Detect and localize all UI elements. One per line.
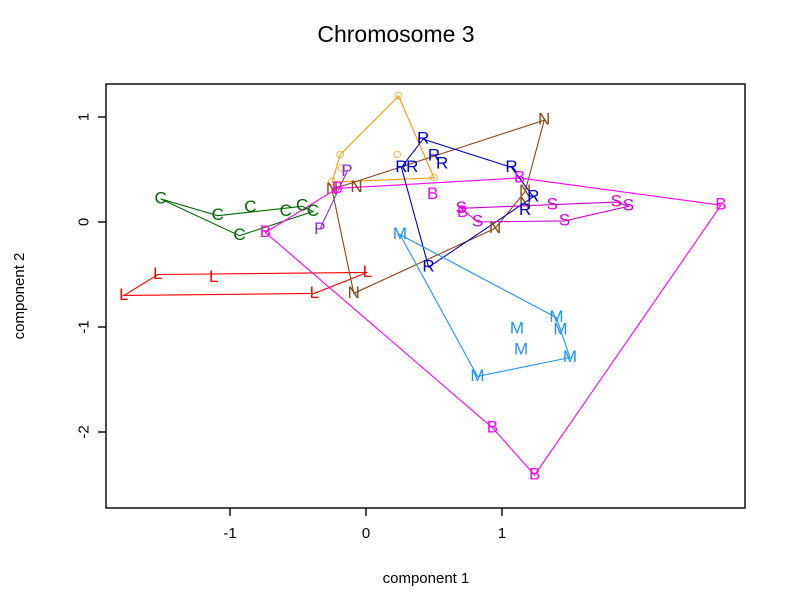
data-point-c-1: C [212,205,224,224]
data-point-c-0: C [154,188,166,207]
plot-canvas: Chromosome 3 -101 10-1-2 component 1 com… [0,0,792,611]
page-title: Chromosome 3 [317,21,474,47]
data-point-b-0: B [260,222,271,241]
data-point-n-1: N [350,177,362,196]
data-point-b-2: B [427,184,438,203]
data-point-c-3: C [280,201,292,220]
data-point-c-5: C [307,201,319,220]
chromosome-scatter-plot: Chromosome 3 -101 10-1-2 component 1 com… [0,0,792,611]
data-point-s-2: S [547,195,558,214]
data-point-l-1: L [153,264,162,283]
data-point-s-0: S [456,198,467,217]
data-point-m-2: M [514,340,528,359]
x-axis-label: component 1 [383,570,470,587]
data-point-r-8: R [422,257,434,276]
data-point-b-5: B [715,195,726,214]
data-point-c-6: C [233,225,245,244]
data-point-m-5: M [563,347,577,366]
data-point-r-5: R [505,157,517,176]
data-point-l-3: L [310,283,319,302]
data-point-l-2: L [209,267,218,286]
data-point-m-4: M [553,320,567,339]
data-point-r-3: R [406,157,418,176]
data-point-o-0: ○ [393,85,403,104]
data-point-c-2: C [244,197,256,216]
data-point-s-1: S [472,211,483,230]
data-point-r-7: R [519,200,531,219]
data-point-l-0: L [119,285,128,304]
y-tick-label: -2 [76,425,93,438]
data-point-s-4: S [611,192,622,211]
x-tick-label: 0 [362,525,370,542]
data-point-n-2: N [538,110,550,129]
data-point-p-1: P [314,219,325,238]
y-tick-label: 1 [76,113,93,121]
data-point-m-1: M [510,319,524,338]
y-tick-label: 0 [76,218,93,226]
data-point-n-5: N [489,218,501,237]
x-tick-label: -1 [223,525,236,542]
data-point-b-1: B [332,178,343,197]
data-point-b-6: B [487,417,498,436]
y-axis-label: component 2 [11,253,28,340]
data-point-r-2: R [436,154,448,173]
data-point-s-3: S [559,210,570,229]
data-point-n-6: N [348,283,360,302]
data-point-r-4: R [395,157,407,176]
data-point-s-5: S [623,196,634,215]
data-point-b-7: B [529,465,540,484]
x-tick-label: 1 [498,525,506,542]
data-point-m-6: M [470,366,484,385]
data-point-l-4: L [363,262,372,281]
y-tick-label: -1 [76,320,93,333]
data-point-m-0: M [393,224,407,243]
